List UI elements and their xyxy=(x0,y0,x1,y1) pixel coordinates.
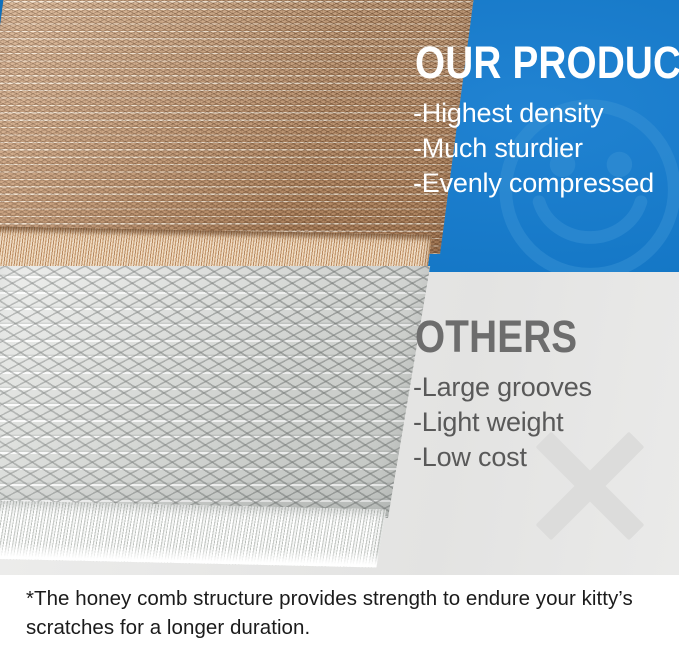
cardboard-honeycomb-top-face xyxy=(0,0,475,254)
others-bullet: -Low cost xyxy=(413,440,592,475)
comparison-area: OUR PRODUCT -Highest density -Much sturd… xyxy=(0,0,679,575)
our-product-heading: OUR PRODUCT xyxy=(415,40,679,85)
our-product-bullet-list: -Highest density -Much sturdier -Evenly … xyxy=(413,96,654,201)
infographic-root: OUR PRODUCT -Highest density -Much sturd… xyxy=(0,0,679,645)
our-product-bullet: -Highest density xyxy=(413,96,654,131)
gray-pad-flute-edge xyxy=(0,500,386,568)
others-bullet: -Light weight xyxy=(413,405,592,440)
gray-pad-top-face xyxy=(0,266,430,518)
others-heading: OTHERS xyxy=(415,314,577,359)
others-bullet: -Large grooves xyxy=(413,370,592,405)
others-bullet-list: -Large grooves -Light weight -Low cost xyxy=(413,370,592,475)
our-product-bullet: -Evenly compressed xyxy=(413,166,654,201)
footnote-caption: *The honey comb structure provides stren… xyxy=(26,584,656,642)
our-product-bullet: -Much sturdier xyxy=(413,131,654,166)
